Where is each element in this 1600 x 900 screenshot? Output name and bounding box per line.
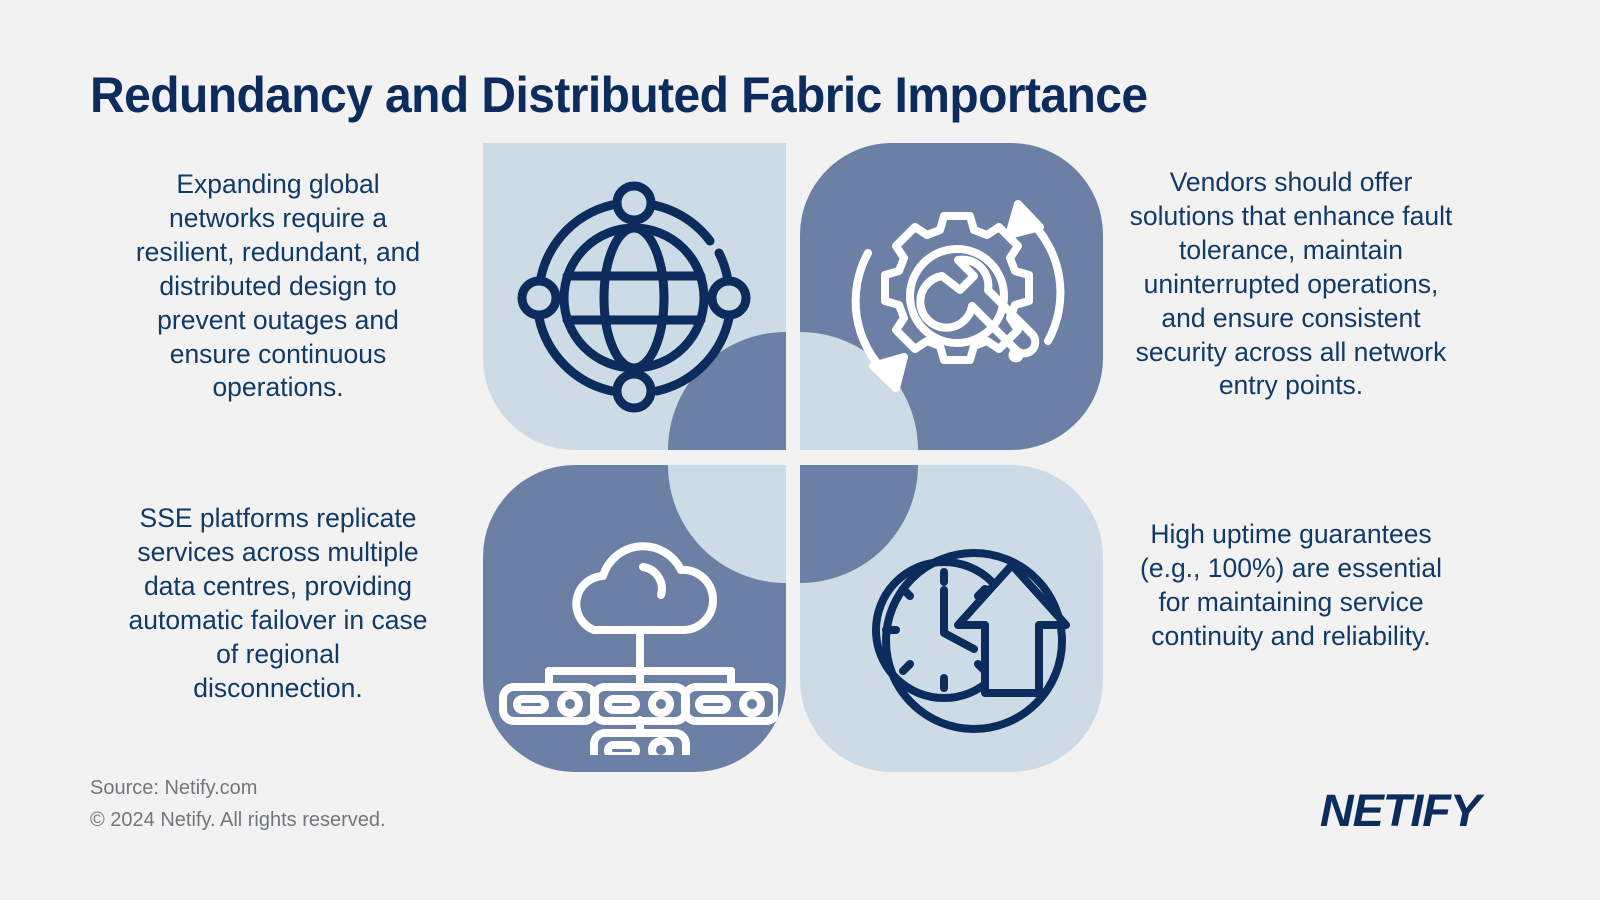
- quadrant-tile-top-left: [483, 143, 786, 450]
- quadrant-text-top-right: Vendors should offer solutions that enha…: [1122, 166, 1460, 403]
- quadrant-tile-top-right: [800, 143, 1103, 450]
- quadrant-tile-bottom-right: [800, 465, 1103, 772]
- footer-source: Source: Netify.com: [90, 777, 257, 800]
- quadrant-graphic: [483, 143, 1103, 773]
- quadrant-text-bottom-left: SSE platforms replicate services across …: [128, 502, 428, 705]
- cloud-servers-icon: [493, 535, 778, 755]
- gear-wrench-refresh-icon: [832, 171, 1082, 421]
- quadrant-tile-bottom-left: [483, 465, 786, 772]
- quadrant-text-bottom-right: High uptime guarantees (e.g., 100%) are …: [1122, 518, 1460, 654]
- globe-network-icon: [497, 173, 772, 423]
- page-title: Redundancy and Distributed Fabric Import…: [90, 66, 1148, 124]
- quadrant-text-top-left: Expanding global networks require a resi…: [128, 168, 428, 405]
- clock-uptime-arrow-icon: [834, 525, 1074, 735]
- footer-copyright: © 2024 Netify. All rights reserved.: [90, 809, 386, 832]
- netify-logo: NETIFY: [1320, 785, 1480, 837]
